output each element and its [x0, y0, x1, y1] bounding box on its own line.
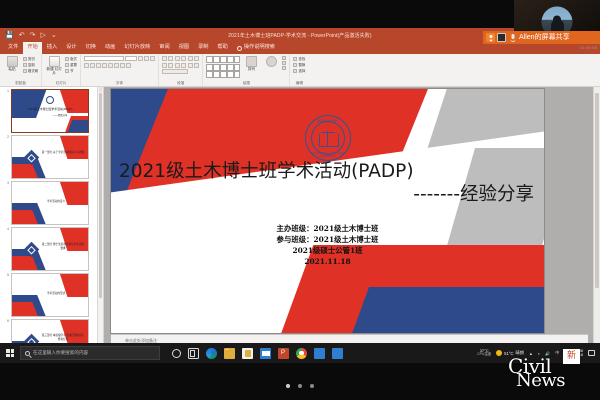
dot-1[interactable] [286, 384, 290, 388]
cpu-temp-label: CPU温度 [477, 353, 491, 357]
ime-icon[interactable]: 中 [555, 350, 559, 356]
underline-icon[interactable] [96, 63, 101, 68]
tab-help[interactable]: 帮助 [213, 42, 231, 54]
thumbnail-row-2[interactable]: 2 第一部分 关于学术活动的意义与内容 [0, 133, 96, 179]
tab-animations[interactable]: 动画 [101, 42, 119, 54]
ribbon-body[interactable]: 粘贴 剪切 复制 格式刷 [0, 54, 600, 87]
meta-row-4: 2021.11.18 [111, 256, 544, 267]
ribbon-group-editing: 查找 替换 选择 编辑 [290, 54, 308, 86]
thumbnail-row-5[interactable]: 5 学术活动的形式 [0, 271, 96, 317]
meta-row-3: 2021级硕士公管1班 [111, 245, 544, 256]
scrollbar-thumb[interactable] [595, 93, 599, 288]
replace-label: 替换 [298, 62, 305, 67]
thumbnail-number: 3 [2, 181, 9, 186]
reset-label: 重置 [70, 62, 77, 67]
thumbnail-number: 5 [2, 273, 9, 278]
quick-styles-icon [266, 56, 277, 67]
thumb-text: 第一部分 关于学术活动的意义与内容 [41, 151, 85, 155]
select-icon [293, 69, 297, 73]
notifications-icon[interactable] [588, 350, 595, 356]
microsoft-store-icon[interactable] [242, 348, 253, 359]
thumbnail-row-3[interactable]: 3 学术活动的意义 [0, 179, 96, 225]
thumb-text: 第二部分 博士生培养方案与学术活动要求 [41, 243, 85, 250]
indent-increase-icon[interactable] [181, 56, 186, 61]
cut-button[interactable]: 剪切 [23, 56, 38, 61]
cortana-icon[interactable] [172, 349, 181, 358]
file-explorer-icon[interactable] [224, 348, 235, 359]
arrange-button[interactable]: 排列 [242, 56, 260, 72]
replace-icon [293, 63, 297, 67]
shape-gallery[interactable] [206, 56, 240, 78]
align-text-icon[interactable] [194, 63, 199, 68]
new-slide-icon [49, 56, 60, 67]
layout-label: 版式 [70, 56, 77, 61]
layout-button[interactable]: 版式 [65, 56, 77, 61]
scrollbar-thumb[interactable] [99, 93, 102, 298]
powerpoint-icon[interactable] [278, 348, 289, 359]
group-label-drawing: 绘图 [243, 81, 250, 87]
thumb-text: 第三部分 本班级学术活动开展情况与经验分享 [41, 334, 85, 341]
new-slide-label: 新建 幻灯片 [45, 68, 63, 75]
shape-fill-button[interactable] [282, 56, 286, 60]
select-label: 选择 [298, 68, 305, 73]
section-label: 节 [70, 68, 73, 73]
thumbnail-scrollbar[interactable] [97, 87, 103, 350]
group-label-font: 字体 [116, 81, 123, 87]
format-painter-icon [23, 69, 27, 73]
meta-value: 2021.11.18 [304, 257, 350, 266]
taskbar-icon-strip[interactable] [172, 348, 343, 359]
clock-date: 2021/11/18 [564, 353, 583, 357]
layout-icon [65, 57, 69, 61]
arrange-label: 排列 [248, 68, 255, 72]
screen-share-banner[interactable]: Allen的屏幕共享 [483, 31, 600, 44]
line-spacing-icon[interactable] [188, 56, 193, 61]
thumbnail-number: 4 [2, 227, 9, 232]
find-icon [293, 57, 297, 61]
meta-value: 2021级土木博士班 [314, 224, 379, 233]
group-label-slides: 幻灯片 [56, 81, 67, 87]
participant-icon [486, 33, 495, 42]
customize-qat-icon[interactable]: ⌄ [51, 32, 57, 39]
slide-thumbnail-1[interactable]: 2021级土木博士班学术活动(PADP) -------经验分享 [11, 89, 89, 133]
section-icon [65, 69, 69, 73]
meta-row-1: 主办班级：2021级土木博士班 [111, 223, 544, 234]
copy-button[interactable]: 复制 [23, 62, 38, 67]
bullets-icon[interactable] [162, 56, 167, 61]
dot-3[interactable] [310, 384, 314, 388]
slide-shape-blue-bottom [345, 287, 544, 333]
volume-icon[interactable]: 🔊 [545, 351, 550, 356]
clock[interactable]: 11:08 2021/11/18 [564, 349, 583, 357]
university-seal-icon: 西南交通大学 SOUTHWEST JIAOTONG UNIVERSITY [305, 115, 351, 161]
tab-view[interactable]: 视图 [175, 42, 193, 54]
share-timer: 01:09:58 [580, 45, 597, 50]
slide-subtitle[interactable]: -------经验分享 [119, 185, 534, 206]
cpu-temperature-indicator[interactable]: 37°C CPU温度 [477, 349, 491, 357]
windows-logo-icon [6, 349, 14, 357]
tab-record[interactable]: 录制 [194, 42, 212, 54]
change-case-icon[interactable] [120, 63, 125, 68]
tell-me-search[interactable]: 操作说明搜索 [233, 42, 279, 54]
sun-icon [496, 350, 502, 356]
decrease-font-icon[interactable] [144, 56, 149, 61]
slide-canvas-pane: 西南交通大学 SOUTHWEST JIAOTONG UNIVERSITY 202… [104, 87, 600, 350]
current-slide[interactable]: 西南交通大学 SOUTHWEST JIAOTONG UNIVERSITY 202… [111, 89, 544, 333]
save-icon[interactable]: 💾 [5, 32, 14, 39]
chrome-icon[interactable] [296, 348, 307, 359]
strikethrough-icon[interactable] [102, 63, 107, 68]
group-label-editing: 编辑 [296, 81, 303, 87]
font-color-icon[interactable] [126, 63, 131, 68]
ribbon-group-font: 字体 [81, 54, 159, 86]
numbering-icon[interactable] [168, 56, 173, 61]
app-blue-icon[interactable] [314, 348, 325, 359]
paste-button[interactable]: 粘贴 [3, 56, 21, 72]
shared-screen-powerpoint: 💾 ↶ ↷ ▷ ⌄ 2021年土木博士班PADP-学术交流 - PowerPoi… [0, 28, 600, 363]
tray-overflow-icon[interactable]: ▲ [529, 351, 533, 356]
indent-decrease-icon[interactable] [175, 56, 180, 61]
thumbnail-row-4[interactable]: 4 第二部分 博士生培养方案与学术活动要求 [0, 225, 96, 271]
tell-me-label: 操作说明搜索 [244, 45, 275, 50]
meta-label: 参与班级： [277, 235, 314, 244]
bold-icon[interactable] [84, 63, 89, 68]
quick-styles-button[interactable] [262, 56, 280, 67]
format-painter-label: 格式刷 [28, 68, 38, 73]
mail-icon[interactable] [260, 348, 271, 359]
tab-transitions[interactable]: 切换 [82, 42, 100, 54]
screen-share-icon[interactable] [497, 33, 506, 42]
slide-thumbnail-5[interactable]: 学术活动的形式 [11, 273, 89, 317]
section-button[interactable]: 节 [65, 68, 77, 73]
paste-icon [7, 56, 18, 67]
weather-indicator[interactable]: 51°C 晴朗 [496, 350, 524, 356]
slide-title[interactable]: 2021级土木博士班学术活动(PADP) [119, 162, 536, 183]
thumbnail-number: 1 [2, 89, 9, 94]
weather-temp: 51°C [504, 351, 513, 356]
find-label: 查找 [298, 56, 305, 61]
search-placeholder: 在这里输入你要搜索的内容 [33, 350, 88, 356]
thumb-title: 2021级土木博士班学术活动(PADP) [15, 108, 85, 112]
clear-formatting-icon[interactable] [150, 56, 155, 61]
undo-icon[interactable]: ↶ [19, 32, 25, 39]
copy-label: 复制 [28, 62, 35, 67]
thumbnail-number: 2 [2, 135, 9, 140]
justify-icon[interactable] [181, 63, 186, 68]
tab-slideshow[interactable]: 幻灯片放映 [120, 42, 154, 54]
university-seal-icon [46, 96, 54, 104]
shape-effects-button[interactable] [282, 66, 286, 70]
slide-thumbnail-pane[interactable]: 1 2021级土木博士班学术活动(PADP) -------经验分享 [0, 87, 104, 350]
lightbulb-icon [237, 46, 242, 51]
ribbon-group-slides: 新建 幻灯片 版式 重置 节 [42, 54, 81, 86]
align-right-icon[interactable] [175, 63, 180, 68]
shape-outline-button[interactable] [282, 61, 286, 65]
zoom-meeting-window: 💾 ↶ ↷ ▷ ⌄ 2021年土木博士班PADP-学术交流 - PowerPoi… [0, 0, 600, 400]
search-icon [25, 351, 30, 356]
work-area: 1 2021级土木博士班学术活动(PADP) -------经验分享 [0, 87, 600, 350]
tab-design[interactable]: 设计 [62, 42, 80, 54]
tab-home[interactable]: 开始 [23, 42, 41, 54]
smartart-button[interactable] [162, 69, 188, 74]
microphone-icon[interactable] [508, 33, 517, 42]
thumb-text: 学术活动的意义 [30, 200, 82, 204]
paste-label: 粘贴 [8, 68, 15, 72]
dot-2[interactable] [298, 384, 302, 388]
present-icon[interactable]: ▷ [40, 32, 45, 39]
meta-value: 2021级硕士公管1班 [292, 246, 362, 255]
ribbon-group-paragraph: 段落 [159, 54, 204, 86]
cut-icon [23, 57, 27, 61]
app-blue2-icon[interactable] [332, 348, 343, 359]
font-name-input[interactable] [84, 56, 124, 61]
shape-outline-icon [282, 61, 286, 65]
slide-thumbnail-4[interactable]: 第二部分 博士生培养方案与学术活动要求 [11, 227, 89, 271]
ribbon-group-clipboard: 粘贴 剪切 复制 格式刷 [0, 54, 42, 86]
char-spacing-icon[interactable] [114, 63, 119, 68]
start-button[interactable] [2, 343, 18, 363]
find-button[interactable]: 查找 [293, 56, 305, 61]
redo-icon[interactable]: ↷ [30, 32, 36, 39]
slide-thumbnail-3[interactable]: 学术活动的意义 [11, 181, 89, 225]
meta-label: 主办班级： [277, 224, 314, 233]
reset-icon [65, 63, 69, 67]
ribbon-group-drawing: 排列 绘图 [203, 54, 290, 86]
slide-thumbnail-2[interactable]: 第一部分 关于学术活动的意义与内容 [11, 135, 89, 179]
thumbnail-row-1[interactable]: 1 2021级土木博士班学术活动(PADP) -------经验分享 [0, 87, 96, 133]
share-label: Allen的屏幕共享 [519, 34, 570, 41]
quick-access-toolbar[interactable]: 💾 ↶ ↷ ▷ ⌄ [0, 32, 57, 39]
arrange-icon [246, 56, 257, 67]
zoom-pagination-dots[interactable] [0, 384, 600, 388]
copy-icon [23, 63, 27, 67]
edge-icon[interactable] [206, 348, 217, 359]
shape-fill-icon [282, 56, 286, 60]
thumb-subtitle: -------经验分享 [35, 114, 85, 117]
taskbar-search-input[interactable]: 在这里输入你要搜索的内容 [20, 346, 160, 360]
align-left-icon[interactable] [162, 63, 167, 68]
meta-value: 2021级土木博士班 [314, 235, 379, 244]
system-tray[interactable]: 37°C CPU温度 51°C 晴朗 ▲ ◐ 🔊 中 11:08 2021/11… [477, 349, 598, 357]
meta-row-2: 参与班级：2021级土木博士班 [111, 234, 544, 245]
group-label-paragraph: 段落 [177, 81, 184, 87]
font-size-input[interactable] [125, 56, 137, 61]
tab-file[interactable]: 文件 [4, 42, 22, 54]
scroll-up-icon[interactable] [99, 87, 102, 92]
increase-font-icon[interactable] [138, 56, 143, 61]
select-button[interactable]: 选择 [293, 68, 305, 73]
canvas-vertical-scrollbar[interactable] [593, 87, 600, 350]
reset-button[interactable]: 重置 [65, 62, 77, 67]
new-slide-button[interactable]: 新建 幻灯片 [45, 56, 63, 75]
shadow-icon[interactable] [108, 63, 113, 68]
text-direction-icon[interactable] [194, 56, 199, 61]
shape-effects-icon [282, 66, 286, 70]
align-center-icon[interactable] [168, 63, 173, 68]
weather-desc: 晴朗 [516, 350, 524, 356]
group-label-clipboard: 剪贴板 [15, 81, 26, 87]
columns-icon[interactable] [188, 63, 193, 68]
task-view-icon[interactable] [188, 348, 199, 359]
format-painter-button[interactable]: 格式刷 [23, 68, 38, 73]
slide-meta-block[interactable]: 主办班级：2021级土木博士班 参与班级：2021级土木博士班 2021级硕士公… [111, 223, 544, 267]
tab-review[interactable]: 审阅 [155, 42, 173, 54]
windows-taskbar[interactable]: 在这里输入你要搜索的内容 37°C CPU温度 51°C 晴朗 ▲ [0, 343, 600, 363]
thumb-text: 学术活动的形式 [30, 292, 82, 296]
network-icon[interactable]: ◐ [538, 351, 540, 356]
replace-button[interactable]: 替换 [293, 62, 305, 67]
tab-insert[interactable]: 插入 [43, 42, 61, 54]
thumbnail-number: 6 [2, 319, 9, 324]
cut-label: 剪切 [28, 56, 35, 61]
italic-icon[interactable] [90, 63, 95, 68]
